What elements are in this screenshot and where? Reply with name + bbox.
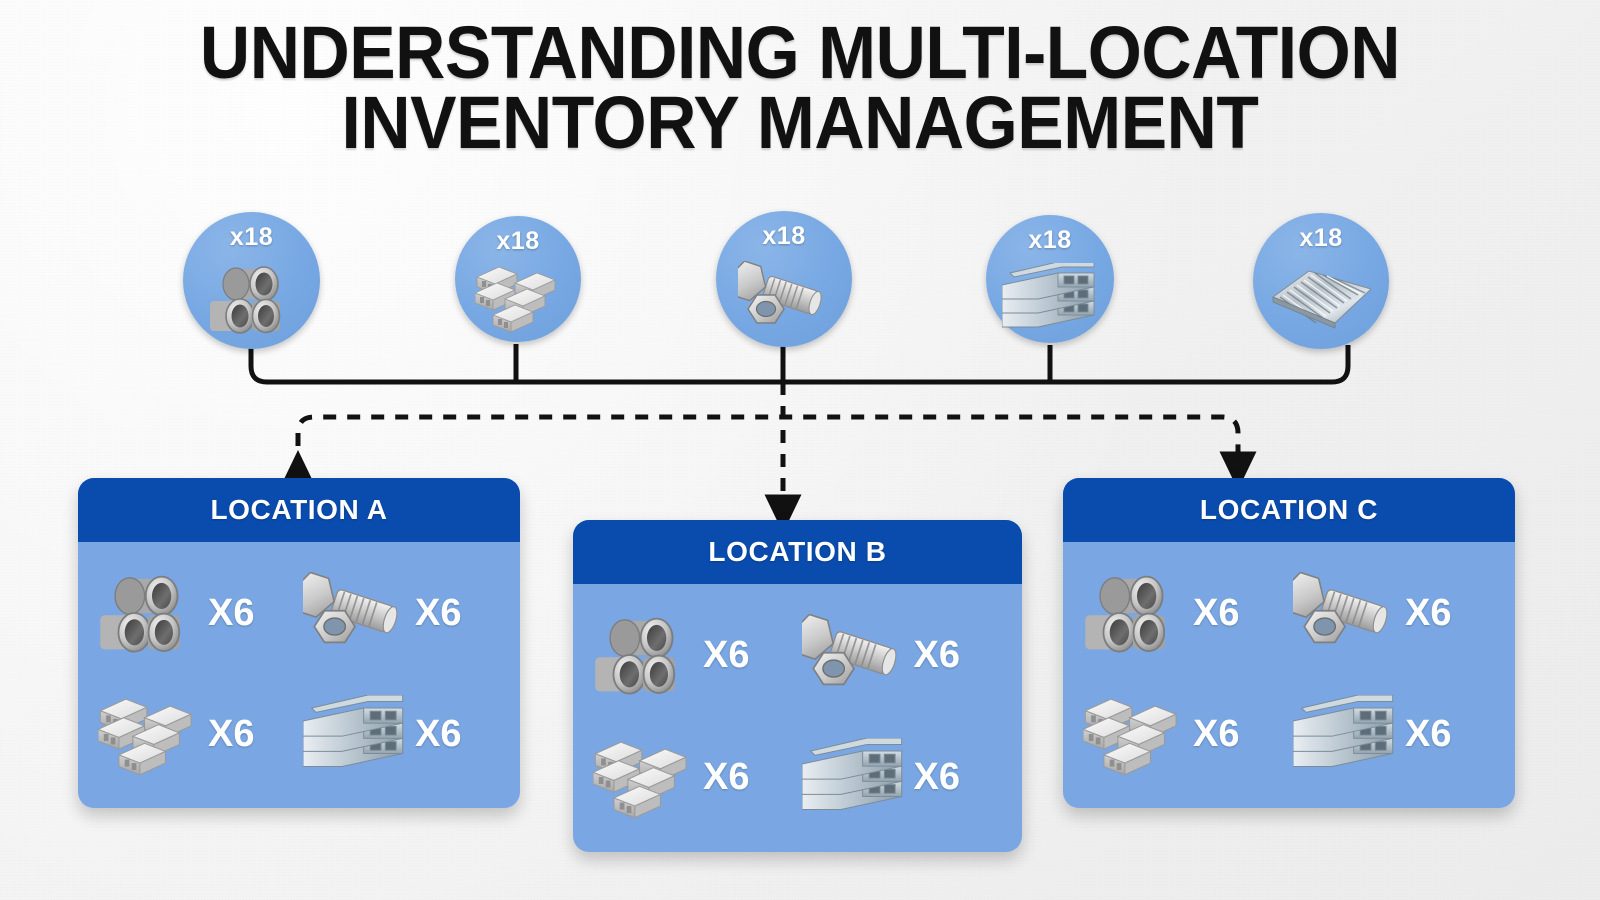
supply-chip-corrugated-sheets[interactable]: x18 bbox=[1253, 213, 1389, 349]
location-card-title: LOCATION B bbox=[573, 520, 1022, 584]
location-card-c[interactable]: LOCATION C bbox=[1063, 478, 1515, 808]
supply-chip-i-beams[interactable]: x18 bbox=[455, 216, 581, 342]
inventory-item-qty: X6 bbox=[208, 715, 254, 753]
inventory-item[interactable]: X6 bbox=[587, 594, 798, 716]
inventory-item-qty: X6 bbox=[1405, 715, 1451, 753]
inventory-item-qty: X6 bbox=[703, 636, 749, 674]
location-card-b[interactable]: LOCATION B bbox=[573, 520, 1022, 852]
inventory-item-qty: X6 bbox=[415, 715, 461, 753]
inventory-item[interactable]: X6 bbox=[587, 716, 798, 838]
steel-profiles-icon bbox=[303, 691, 407, 777]
pipes-icon bbox=[96, 570, 200, 656]
inventory-item-qty: X6 bbox=[703, 758, 749, 796]
inventory-item-qty: X6 bbox=[1193, 715, 1239, 753]
inventory-item-qty: X6 bbox=[1405, 594, 1451, 632]
inventory-item[interactable]: X6 bbox=[92, 673, 299, 794]
location-inventory-grid: X6 bbox=[1063, 542, 1515, 808]
supply-chip-steel-profiles[interactable]: x18 bbox=[986, 215, 1114, 343]
steel-profiles-icon bbox=[986, 251, 1114, 343]
i-beams-icon bbox=[96, 691, 200, 777]
steel-profiles-icon bbox=[1293, 691, 1397, 777]
inventory-item-qty: X6 bbox=[415, 594, 461, 632]
inventory-item-qty: X6 bbox=[914, 636, 960, 674]
bolt-nut-icon bbox=[716, 247, 852, 347]
supply-chip-pipes[interactable]: x18 bbox=[183, 212, 320, 349]
bolt-nut-icon bbox=[1293, 570, 1397, 656]
steel-profiles-icon bbox=[802, 734, 906, 820]
corrugated-sheet-icon bbox=[1253, 249, 1389, 349]
inventory-item-qty: X6 bbox=[914, 758, 960, 796]
location-card-title: LOCATION A bbox=[78, 478, 520, 542]
inventory-item[interactable]: X6 bbox=[1289, 552, 1501, 673]
i-beams-icon bbox=[1081, 691, 1185, 777]
location-card-a[interactable]: LOCATION A bbox=[78, 478, 520, 808]
supply-chip-bolt-nut[interactable]: x18 bbox=[716, 211, 852, 347]
i-beams-icon bbox=[455, 252, 581, 342]
location-card-title: LOCATION C bbox=[1063, 478, 1515, 542]
inventory-item[interactable]: X6 bbox=[1077, 552, 1289, 673]
pipes-icon bbox=[591, 612, 695, 698]
inventory-item[interactable]: X6 bbox=[299, 673, 506, 794]
inventory-item-qty: X6 bbox=[208, 594, 254, 632]
inventory-item[interactable]: X6 bbox=[798, 716, 1009, 838]
pipes-icon bbox=[183, 248, 320, 349]
pipes-icon bbox=[1081, 570, 1185, 656]
bolt-nut-icon bbox=[303, 570, 407, 656]
location-inventory-grid: X6 bbox=[78, 542, 520, 808]
inventory-item-qty: X6 bbox=[1193, 594, 1239, 632]
inventory-item[interactable]: X6 bbox=[1077, 673, 1289, 794]
supply-solid-wires bbox=[251, 341, 1348, 382]
inventory-item[interactable]: X6 bbox=[1289, 673, 1501, 794]
location-inventory-grid: X6 bbox=[573, 584, 1022, 852]
inventory-item[interactable]: X6 bbox=[798, 594, 1009, 716]
bolt-nut-icon bbox=[802, 612, 906, 698]
i-beams-icon bbox=[591, 734, 695, 820]
inventory-item[interactable]: X6 bbox=[299, 552, 506, 673]
inventory-item[interactable]: X6 bbox=[92, 552, 299, 673]
